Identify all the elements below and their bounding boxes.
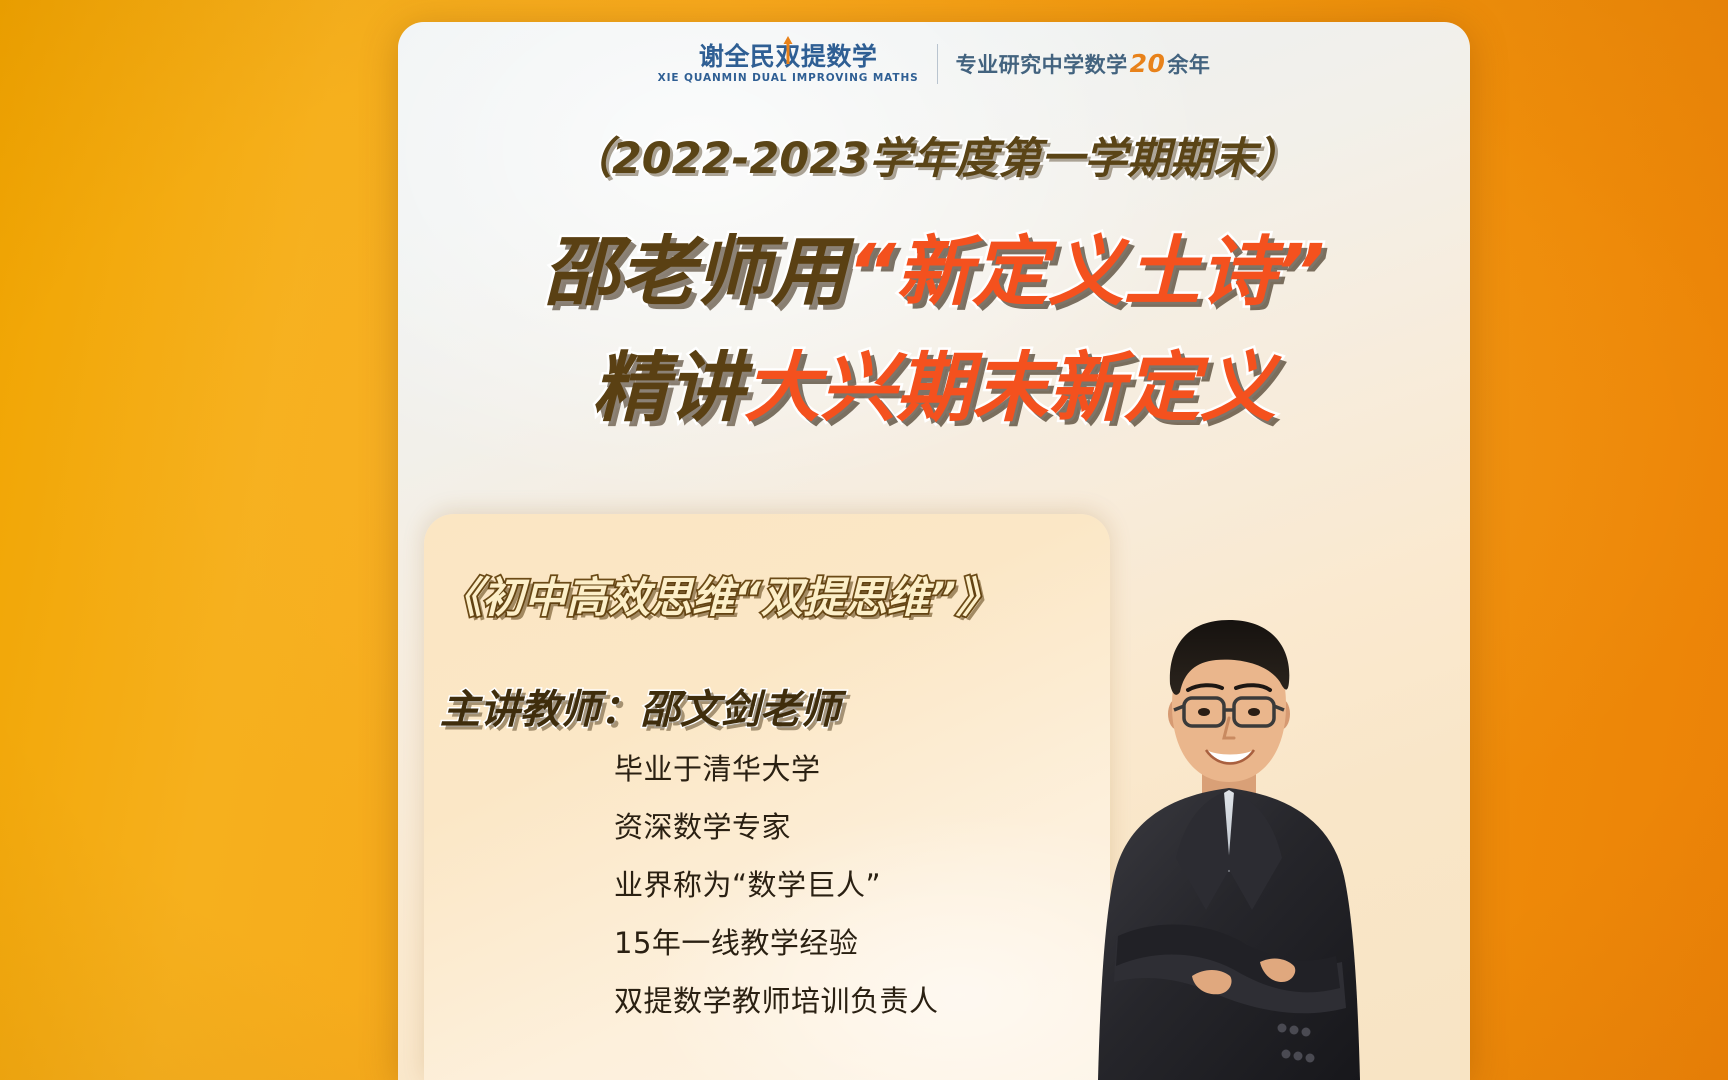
brand-logo: 谢全民双提数学 XIE QUANMIN DUAL IMPROVING MATHS: [658, 44, 919, 84]
headline-line2-orange: 大兴期末新定义: [744, 343, 1276, 432]
teacher-line: 主讲教师：邵文剑老师: [440, 677, 840, 735]
tagline-prefix: 专业研究中学数学: [956, 49, 1128, 79]
brand-logo-english: XIE QUANMIN DUAL IMPROVING MATHS: [658, 73, 919, 84]
list-item: 业界称为“数学巨人”: [614, 862, 939, 904]
instructor-photo: [1074, 610, 1384, 1080]
teacher-name: 邵文剑老师: [640, 687, 840, 733]
headline-line2-brown: 精讲: [592, 343, 744, 432]
credentials-list: 毕业于清华大学 资深数学专家 业界称为“数学巨人” 15年一线教学经验 双提数学…: [614, 746, 939, 1020]
brand-logo-chinese: 谢全民双提数学: [699, 44, 878, 69]
teacher-label: 主讲教师：: [440, 687, 640, 733]
semester-subtitle: （2022-2023学年度第一学期期末）: [398, 124, 1470, 186]
tagline-suffix: 余年: [1167, 49, 1210, 79]
brand-tagline: 专业研究中学数学20余年: [956, 49, 1211, 79]
list-item: 双提数学教师培训负责人: [614, 978, 939, 1020]
list-item: 毕业于清华大学: [614, 746, 939, 788]
book-title: 《初中高效思维“双提思维”》: [440, 564, 1110, 625]
headline-line-2: 精讲大兴期末新定义: [398, 330, 1470, 446]
headline-block: 邵老师用“新定义土诗” 精讲大兴期末新定义: [398, 214, 1470, 445]
main-card: 谢全民双提数学 XIE QUANMIN DUAL IMPROVING MATHS…: [398, 22, 1470, 1080]
brand-header: 谢全民双提数学 XIE QUANMIN DUAL IMPROVING MATHS…: [398, 44, 1470, 84]
brand-divider: [937, 44, 938, 84]
headline-line1-brown: 邵老师用: [543, 227, 847, 316]
headline-line1-orange: “新定义土诗”: [847, 227, 1325, 316]
list-item: 15年一线教学经验: [614, 920, 939, 962]
list-item: 资深数学专家: [614, 804, 939, 846]
poster-root: 谢全民双提数学 XIE QUANMIN DUAL IMPROVING MATHS…: [0, 0, 1728, 1080]
course-info-panel: 《初中高效思维“双提思维”》 主讲教师：邵文剑老师 毕业于清华大学 资深数学专家…: [424, 514, 1110, 1080]
headline-line-1: 邵老师用“新定义土诗”: [398, 214, 1470, 330]
tagline-number: 20: [1129, 49, 1167, 78]
upward-arrow-icon: [782, 35, 795, 65]
